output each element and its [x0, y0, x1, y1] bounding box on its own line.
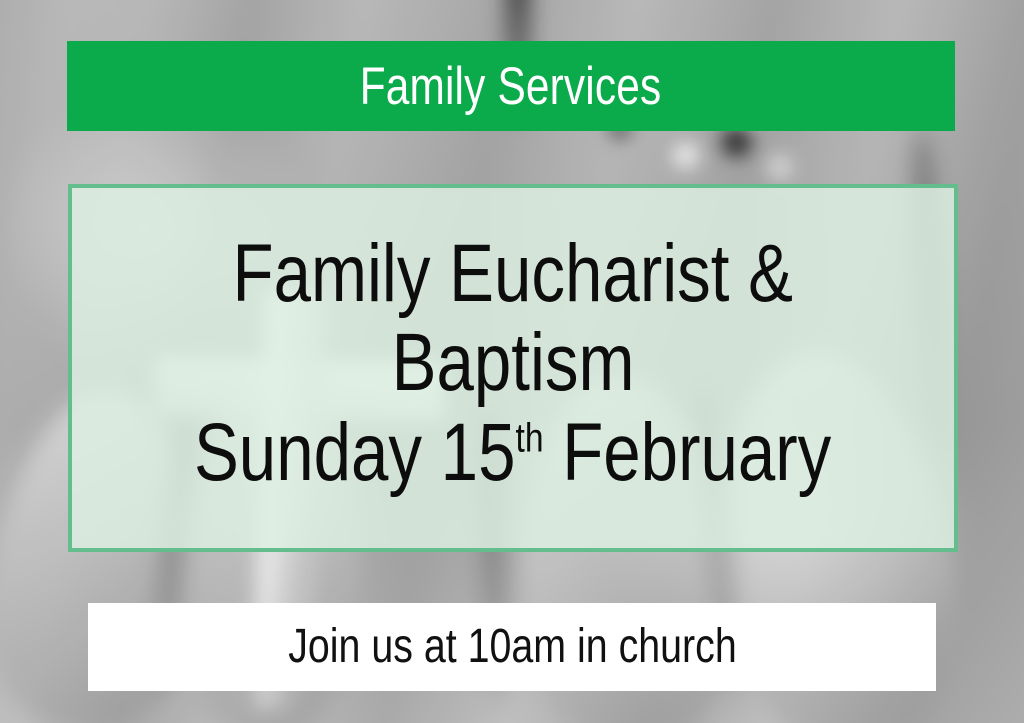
date-ordinal-suffix: th: [516, 415, 544, 461]
poster-canvas: Family Services Family Eucharist & Bapti…: [0, 0, 1024, 723]
date-month: February: [544, 407, 832, 498]
footer-bar: Join us at 10am in church: [88, 603, 936, 691]
announcement-line-1: Family Eucharist &: [233, 231, 793, 318]
announcement-line-2: Baptism: [392, 320, 635, 407]
announcement-line-3: Sunday 15th February: [194, 410, 831, 497]
date-prefix: Sunday 15: [194, 407, 516, 498]
footer-text: Join us at 10am in church: [288, 623, 737, 671]
banner-title: Family Services: [360, 60, 662, 113]
header-banner: Family Services: [67, 41, 955, 131]
announcement-panel: Family Eucharist & Baptism Sunday 15th F…: [68, 184, 958, 552]
